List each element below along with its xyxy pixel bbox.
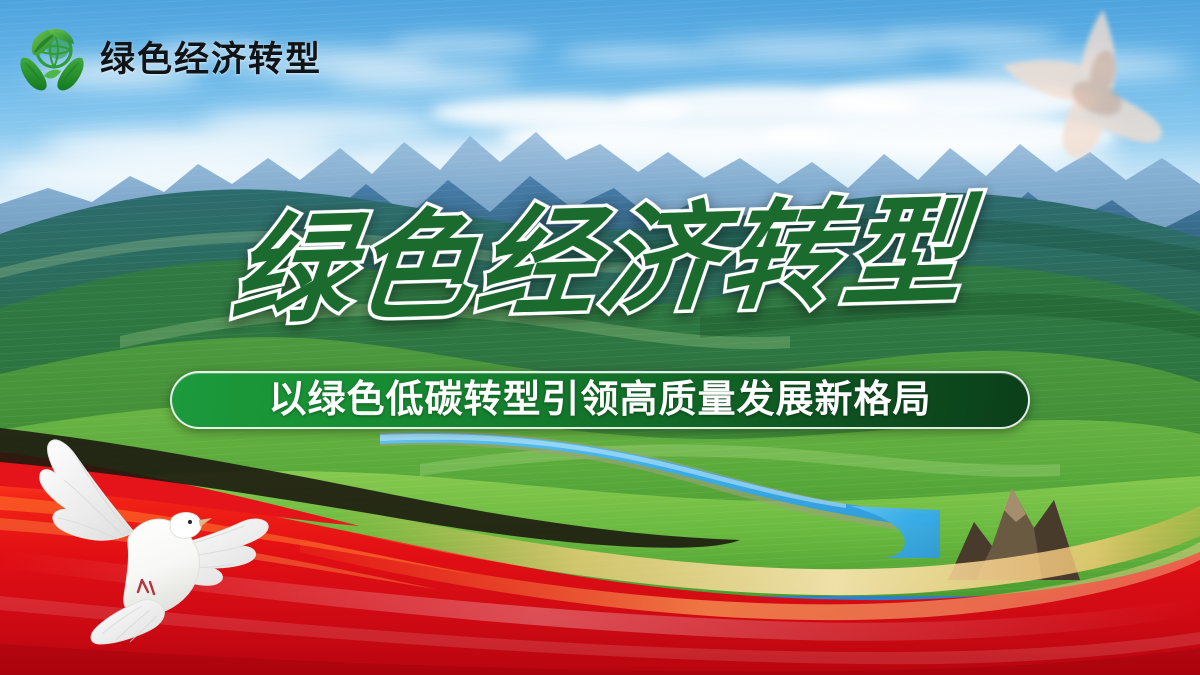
white-dove-icon	[38, 436, 278, 646]
brand-header: 绿色经济转型	[14, 22, 322, 96]
eco-hands-globe-leaf-logo	[14, 22, 90, 96]
poster-canvas: 绿色经济转型 绿色经济转型 绿色经济转型 以绿色低碳转型引领高质量发展新格局	[0, 0, 1200, 675]
header-title: 绿色经济转型	[100, 42, 322, 77]
soft-focus-dove-icon	[985, 0, 1200, 175]
subtitle-pill: 以绿色低碳转型引领高质量发展新格局	[170, 371, 1030, 429]
subtitle-text: 以绿色低碳转型引领高质量发展新格局	[268, 381, 931, 419]
